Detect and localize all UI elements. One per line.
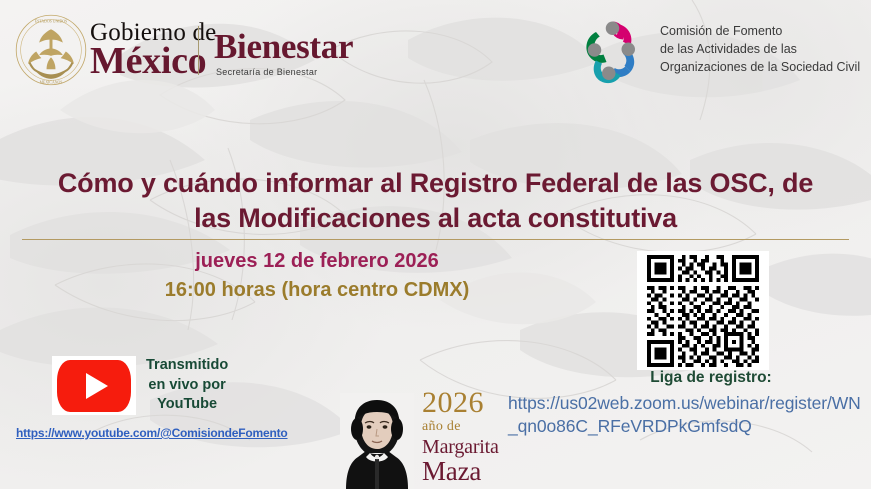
header-bar: ESTADOS UNIDOS MEXICANOS Gobierno de Méx… [0,0,871,100]
commission-line-1: Comisión de Fomento [660,23,860,41]
youtube-channel-link[interactable]: https://www.youtube.com/@ComisiondeFomen… [16,426,288,440]
svg-text:MEXICANOS: MEXICANOS [40,80,63,84]
youtube-caption: Transmitido en vivo por YouTube [146,356,228,414]
play-triangle-icon [86,373,108,399]
commemoration-prefix: año de [422,420,499,434]
margarita-maza-portrait-icon [340,393,414,489]
youtube-caption-line-1: Transmitido [146,356,228,375]
qr-code-panel[interactable] [637,251,769,370]
commemoration-block: 2026 año de Margarita Maza [340,388,499,489]
event-datetime: jueves 12 de febrero 2026 16:00 horas (h… [22,249,612,303]
webinar-announcement-poster: ESTADOS UNIDOS MEXICANOS Gobierno de Méx… [0,0,871,489]
cfosc-swirl-logo-icon [572,14,650,86]
registration-link[interactable]: https://us02web.zoom.us/webinar/register… [508,392,870,439]
page-title: Cómo y cuándo informar al Registro Feder… [0,166,871,236]
mexican-coat-of-arms-icon: ESTADOS UNIDOS MEXICANOS [14,13,88,87]
ministry-name: Bienestar [214,29,353,64]
government-branding: ESTADOS UNIDOS MEXICANOS Gobierno de Méx… [14,13,216,87]
commemoration-name-line-2: Maza [422,458,499,485]
title-divider [22,239,849,240]
youtube-caption-line-2: en vivo por [146,376,228,395]
ministry-subtitle: Secretaría de Bienestar [216,68,353,77]
svg-text:ESTADOS UNIDOS: ESTADOS UNIDOS [35,20,67,24]
commemoration-year: 2026 [422,388,499,418]
youtube-badge [57,360,131,412]
qr-code-icon[interactable] [647,255,759,367]
commemoration-text: 2026 año de Margarita Maza [422,388,499,489]
event-date: jueves 12 de febrero 2026 [22,249,612,275]
commemoration-name-line-1: Margarita [422,437,499,457]
commission-name: Comisión de Fomento de las Actividades d… [660,23,860,76]
header-divider [198,26,199,75]
commission-line-3: Organizaciones de la Sociedad Civil [660,59,860,77]
commission-line-2: de las Actividades de las [660,41,860,59]
ministry-branding: Bienestar Secretaría de Bienestar [214,29,353,77]
event-time: 16:00 horas (hora centro CDMX) [22,278,612,304]
youtube-play-icon[interactable] [52,356,136,415]
commission-branding: Comisión de Fomento de las Actividades d… [572,14,860,86]
youtube-broadcast-block: Transmitido en vivo por YouTube [52,356,228,415]
registration-label: Liga de registro: [566,369,856,387]
youtube-caption-line-3: YouTube [146,395,228,414]
